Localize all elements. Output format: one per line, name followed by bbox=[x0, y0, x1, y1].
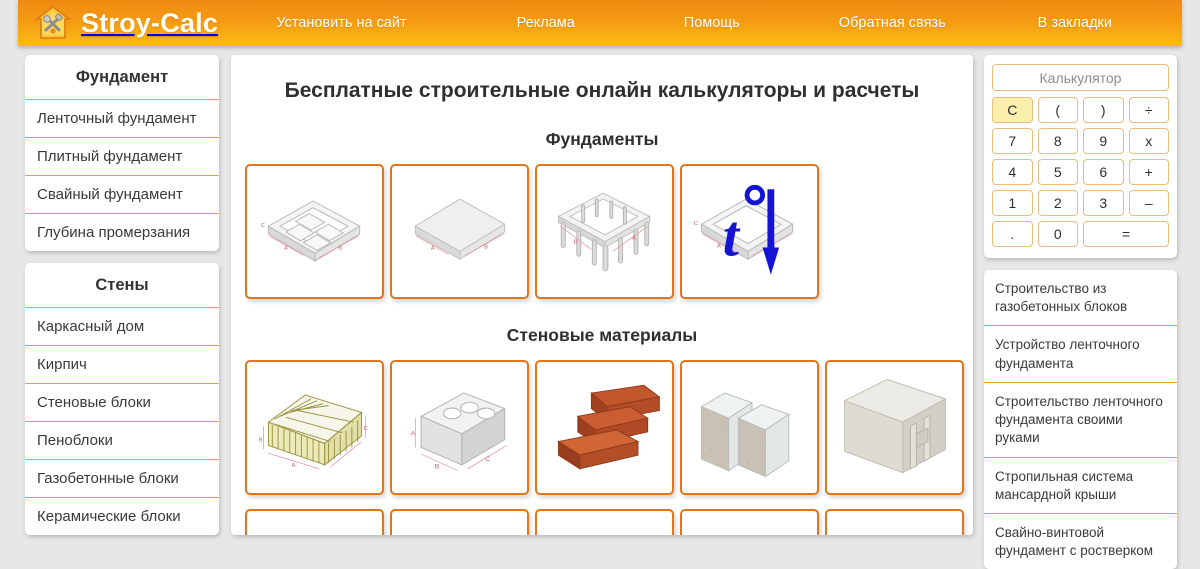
calculator-display[interactable]: Калькулятор bbox=[992, 64, 1169, 91]
card-placeholder[interactable] bbox=[535, 509, 674, 535]
calc-key-paren-close[interactable]: ) bbox=[1083, 97, 1124, 123]
svg-text:C: C bbox=[261, 223, 265, 229]
calc-key-3[interactable]: 3 bbox=[1083, 190, 1124, 216]
article-link-strip-foundation-diy[interactable]: Строительство ленточного фундамента свои… bbox=[984, 383, 1177, 458]
left-sidebar: Фундамент Ленточный фундамент Плитный фу… bbox=[25, 55, 219, 547]
calculator-widget: Калькулятор C ( ) ÷ 7 8 9 x 4 5 6 + 1 2 … bbox=[984, 55, 1177, 258]
svg-text:A: A bbox=[632, 236, 636, 242]
svg-text:t: t bbox=[723, 203, 741, 268]
sidebar-item-aerated-blocks[interactable]: Газобетонные блоки bbox=[25, 460, 219, 498]
svg-text:A: A bbox=[431, 245, 435, 251]
calc-key-divide[interactable]: ÷ bbox=[1129, 97, 1170, 123]
sidebar-item-strip-foundation[interactable]: Ленточный фундамент bbox=[25, 100, 219, 138]
sidebar-item-slab-foundation[interactable]: Плитный фундамент bbox=[25, 138, 219, 176]
calc-key-multiply[interactable]: x bbox=[1129, 128, 1170, 154]
foundation-card-row: A B C A B bbox=[231, 150, 973, 299]
aerated-block-card[interactable] bbox=[825, 360, 964, 495]
section-title-foundations: Фундаменты bbox=[231, 103, 973, 150]
sidebar-item-frame-house[interactable]: Каркасный дом bbox=[25, 308, 219, 346]
frame-house-diagram: B A C bbox=[247, 362, 382, 493]
article-link-strip-foundation-setup[interactable]: Устройство ленточного фундамента bbox=[984, 326, 1177, 382]
red-brick-stack-photo bbox=[537, 362, 672, 493]
article-link-rafter-system[interactable]: Стропильная система мансардной крыши bbox=[984, 458, 1177, 514]
article-link-screw-pile-foundation[interactable]: Свайно-винтовой фундамент с ростверком bbox=[984, 514, 1177, 569]
nav-item-install[interactable]: Установить на сайт bbox=[274, 11, 408, 35]
hollow-block-diagram: A B C bbox=[392, 362, 527, 493]
nav-item-help[interactable]: Помощь bbox=[682, 11, 742, 35]
calc-key-minus[interactable]: – bbox=[1129, 190, 1170, 216]
house-with-tools-icon bbox=[34, 4, 72, 42]
calc-key-0[interactable]: 0 bbox=[1038, 221, 1079, 247]
svg-text:B: B bbox=[484, 244, 488, 250]
svg-text:B: B bbox=[435, 464, 440, 471]
nav-item-advertising[interactable]: Реклама bbox=[515, 11, 577, 35]
svg-text:A: A bbox=[717, 244, 721, 250]
svg-text:A: A bbox=[284, 245, 288, 251]
card-placeholder[interactable] bbox=[245, 509, 384, 535]
right-sidebar: Калькулятор C ( ) ÷ 7 8 9 x 4 5 6 + 1 2 … bbox=[984, 55, 1177, 569]
svg-text:C: C bbox=[485, 456, 490, 463]
sidebar-item-pile-foundation[interactable]: Свайный фундамент bbox=[25, 176, 219, 214]
freezing-depth-diagram: A B C t bbox=[682, 166, 817, 297]
article-link-aerated-construction[interactable]: Строительство из газобетонных блоков bbox=[984, 270, 1177, 326]
card-placeholder[interactable] bbox=[825, 509, 964, 535]
calculator-keypad: C ( ) ÷ 7 8 9 x 4 5 6 + 1 2 3 – . 0 = bbox=[992, 97, 1169, 247]
calc-key-plus[interactable]: + bbox=[1129, 159, 1170, 185]
calc-key-1[interactable]: 1 bbox=[992, 190, 1033, 216]
frame-house-card[interactable]: B A C bbox=[245, 360, 384, 495]
svg-text:C: C bbox=[364, 426, 368, 432]
slab-foundation-card[interactable]: A B bbox=[390, 164, 529, 299]
calc-key-equals[interactable]: = bbox=[1083, 221, 1169, 247]
sidebar-item-ceramic-blocks[interactable]: Керамические блоки bbox=[25, 498, 219, 535]
strip-foundation-diagram: A B C bbox=[247, 166, 382, 297]
main-nav: Установить на сайт Реклама Помощь Обратн… bbox=[218, 11, 1182, 35]
svg-text:C: C bbox=[694, 221, 698, 227]
calc-key-6[interactable]: 6 bbox=[1083, 159, 1124, 185]
sidebar-item-wall-blocks[interactable]: Стеновые блоки bbox=[25, 384, 219, 422]
svg-text:B: B bbox=[574, 240, 578, 246]
calc-key-paren-open[interactable]: ( bbox=[1038, 97, 1079, 123]
card-placeholder[interactable] bbox=[680, 509, 819, 535]
sidebar-panel-title-walls: Стены bbox=[25, 263, 219, 308]
next-card-row-partial bbox=[231, 495, 973, 535]
brick-card[interactable] bbox=[535, 360, 674, 495]
pile-foundation-card[interactable]: B A bbox=[535, 164, 674, 299]
calc-key-7[interactable]: 7 bbox=[992, 128, 1033, 154]
foam-blocks-photo bbox=[682, 362, 817, 493]
sidebar-panel-foundation: Фундамент Ленточный фундамент Плитный фу… bbox=[25, 55, 219, 251]
card-placeholder[interactable] bbox=[390, 509, 529, 535]
freezing-depth-card[interactable]: A B C t bbox=[680, 164, 819, 299]
sidebar-panel-title-foundation: Фундамент bbox=[25, 55, 219, 100]
aerated-concrete-block-photo bbox=[827, 362, 962, 493]
calc-key-decimal[interactable]: . bbox=[992, 221, 1033, 247]
wall-material-card-row: B A C A B C bbox=[231, 346, 973, 495]
foam-block-card[interactable] bbox=[680, 360, 819, 495]
page-title: Бесплатные строительные онлайн калькулят… bbox=[231, 55, 973, 103]
nav-item-feedback[interactable]: Обратная связь bbox=[837, 11, 948, 35]
slab-foundation-diagram: A B bbox=[392, 166, 527, 297]
svg-text:A: A bbox=[410, 431, 415, 438]
brand-title: Stroy-Calc bbox=[81, 8, 218, 39]
strip-foundation-card[interactable]: A B C bbox=[245, 164, 384, 299]
section-title-wall-materials: Стеновые материалы bbox=[231, 299, 973, 346]
calc-key-clear[interactable]: C bbox=[992, 97, 1033, 123]
main-content: Бесплатные строительные онлайн калькулят… bbox=[231, 55, 973, 535]
sidebar-panel-walls: Стены Каркасный дом Кирпич Стеновые блок… bbox=[25, 263, 219, 535]
svg-text:B: B bbox=[259, 438, 263, 444]
calc-key-5[interactable]: 5 bbox=[1038, 159, 1079, 185]
sidebar-item-freezing-depth[interactable]: Глубина промерзания bbox=[25, 214, 219, 251]
svg-text:A: A bbox=[292, 463, 296, 469]
calc-key-4[interactable]: 4 bbox=[992, 159, 1033, 185]
svg-text:B: B bbox=[338, 245, 342, 251]
nav-item-bookmark[interactable]: В закладки bbox=[1036, 11, 1114, 35]
article-links-panel: Строительство из газобетонных блоков Уст… bbox=[984, 270, 1177, 569]
pile-foundation-diagram: B A bbox=[537, 166, 672, 297]
sidebar-item-brick[interactable]: Кирпич bbox=[25, 346, 219, 384]
hollow-block-card[interactable]: A B C bbox=[390, 360, 529, 495]
sidebar-item-foam-blocks[interactable]: Пеноблоки bbox=[25, 422, 219, 460]
site-header: Stroy-Calc Установить на сайт Реклама По… bbox=[18, 0, 1182, 46]
brand-logo[interactable]: Stroy-Calc bbox=[34, 4, 218, 42]
calc-key-2[interactable]: 2 bbox=[1038, 190, 1079, 216]
calc-key-8[interactable]: 8 bbox=[1038, 128, 1079, 154]
calc-key-9[interactable]: 9 bbox=[1083, 128, 1124, 154]
